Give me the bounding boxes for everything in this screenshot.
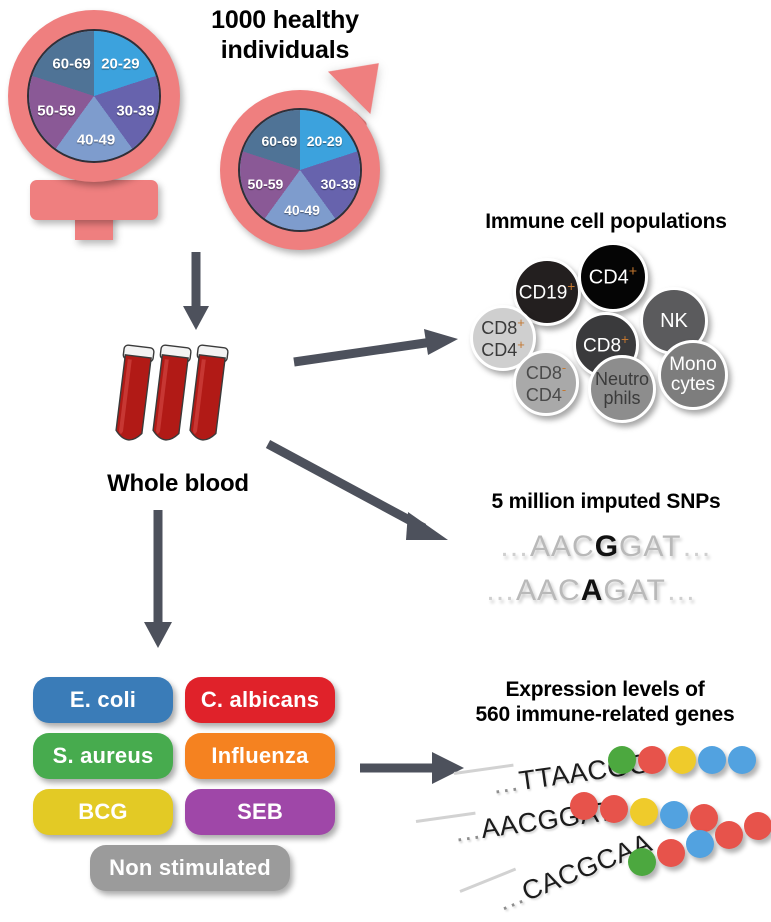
expression-bead [686,830,714,858]
gene-strands: …TTAACGG…AACGGAT…CACGCAA [440,740,771,922]
expression-bead [630,798,658,826]
stimulation-label: BCG [78,799,128,825]
expression-section-title: Expression levels of 560 immune-related … [450,678,760,728]
stimulation-label: C. albicans [201,687,319,713]
expression-title-line1: Expression levels of [450,678,760,703]
stimulation-seb[interactable]: SEB [185,789,335,835]
stimulation-label: S. aureus [53,743,154,769]
dna-ellipsis: … [490,766,521,800]
expression-bead [690,804,718,832]
expression-bead [638,746,666,774]
stimulation-e-coli[interactable]: E. coli [33,677,173,723]
expression-bead [657,839,685,867]
stimulation-label: E. coli [70,687,136,713]
expression-bead [570,792,598,820]
stimulation-label: SEB [237,799,283,825]
stimulation-s-aureus[interactable]: S. aureus [33,733,173,779]
expression-bead [698,746,726,774]
expression-bead [608,746,636,774]
stimulation-label: Influenza [211,743,308,769]
expression-bead [728,746,756,774]
expression-bead [660,801,688,829]
dna-sequence: …CACGCAA [492,827,656,917]
figure-canvas: 1000 healthy individuals 20-2930-3940-49… [0,0,771,922]
expression-bead [668,746,696,774]
expression-bead [628,848,656,876]
expression-bead [744,812,771,840]
dna-ellipsis: … [452,814,483,848]
stimulation-non-stimulated[interactable]: Non stimulated [90,845,290,891]
expression-title-line2: 560 immune-related genes [450,703,760,728]
stimulation-label: Non stimulated [109,855,271,881]
stimulation-c-albicans[interactable]: C. albicans [185,677,335,723]
stimulation-influenza[interactable]: Influenza [185,733,335,779]
expression-bead [600,795,628,823]
stimulation-bcg[interactable]: BCG [33,789,173,835]
expression-bead [715,821,743,849]
dna-ellipsis: … [492,879,529,917]
